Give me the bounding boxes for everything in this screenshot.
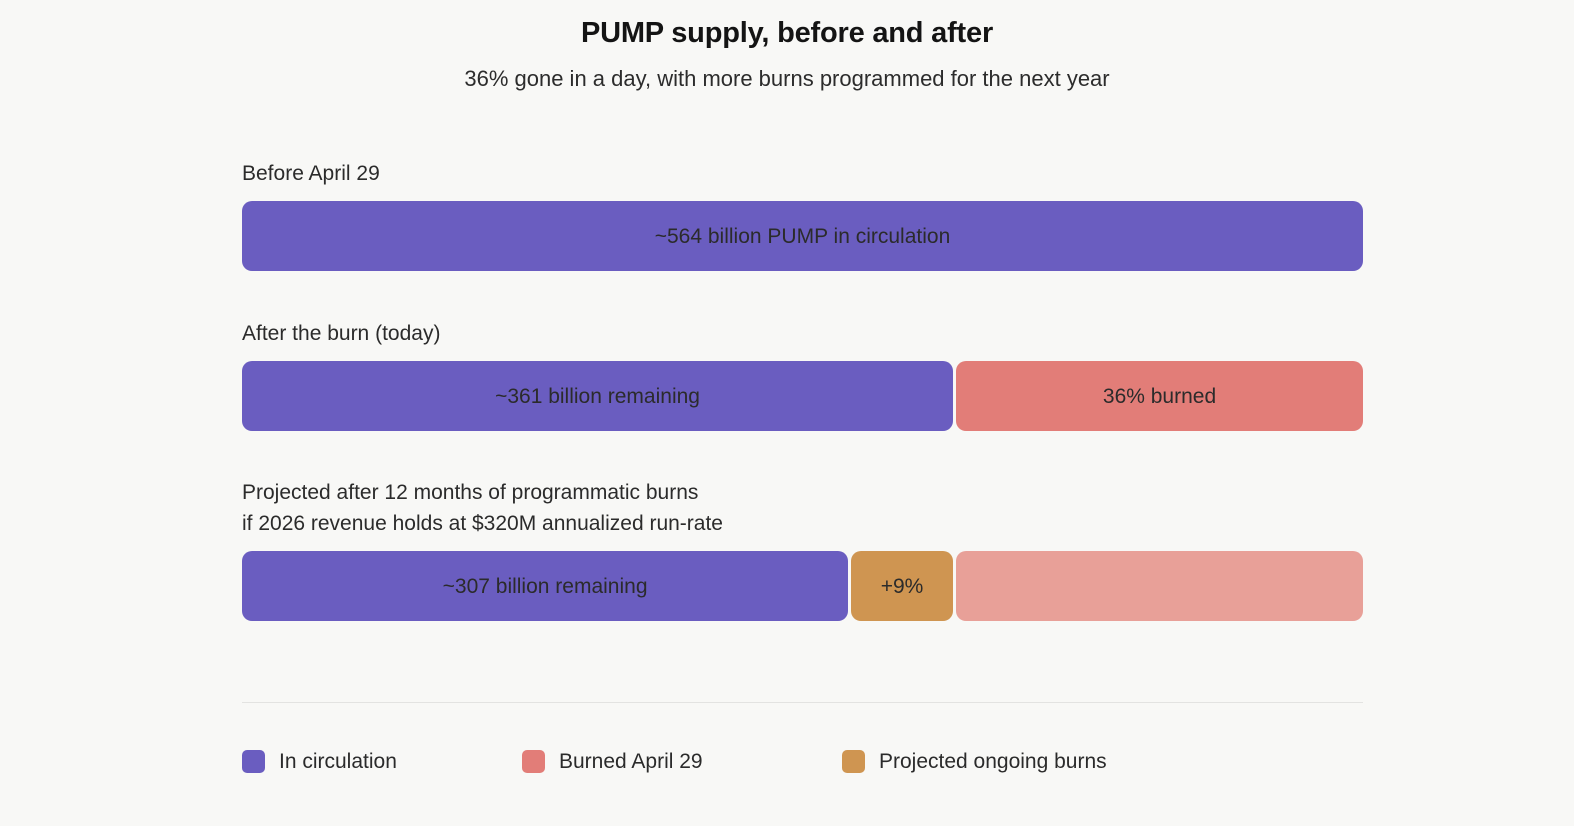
bar-group-label: Before April 29 [242, 158, 1363, 189]
chart-title: PUMP supply, before and after [0, 16, 1574, 51]
bar-track: ~361 billion remaining 36% burned [242, 361, 1363, 431]
chart-legend: In circulation Burned April 29 Projected… [242, 750, 1107, 773]
bar-segment-burned[interactable]: 36% burned [956, 361, 1363, 431]
bar-segment-in-circulation[interactable]: ~564 billion PUMP in circulation [242, 201, 1363, 271]
bar-segment-label: ~361 billion remaining [495, 386, 700, 407]
bar-group-label: Projected after 12 months of programmati… [242, 477, 1363, 539]
bar-segment-label: ~564 billion PUMP in circulation [655, 226, 951, 247]
bar-track: ~307 billion remaining +9% [242, 551, 1363, 621]
legend-divider [242, 702, 1363, 703]
bar-group-before: Before April 29 ~564 billion PUMP in cir… [242, 158, 1363, 271]
legend-swatch-icon [242, 750, 265, 773]
chart-subtitle: 36% gone in a day, with more burns progr… [0, 65, 1574, 94]
bar-segment-in-circulation[interactable]: ~361 billion remaining [242, 361, 953, 431]
bar-segment-burned-faded[interactable] [956, 551, 1363, 621]
bar-segment-label: +9% [881, 576, 924, 597]
bar-group-after-burn: After the burn (today) ~361 billion rema… [242, 318, 1363, 431]
bar-group-label: After the burn (today) [242, 318, 1363, 349]
chart-canvas: PUMP supply, before and after 36% gone i… [0, 0, 1574, 826]
legend-item-label: In circulation [279, 751, 397, 772]
bar-segment-label: 36% burned [1103, 386, 1216, 407]
legend-item-projected[interactable]: Projected ongoing burns [842, 750, 1107, 773]
bar-segment-label: ~307 billion remaining [443, 576, 648, 597]
chart-header: PUMP supply, before and after 36% gone i… [0, 16, 1574, 93]
legend-swatch-icon [522, 750, 545, 773]
bar-group-projected: Projected after 12 months of programmati… [242, 477, 1363, 621]
legend-swatch-icon [842, 750, 865, 773]
legend-item-in-circulation[interactable]: In circulation [242, 750, 522, 773]
bar-segment-projected-burns[interactable]: +9% [851, 551, 953, 621]
legend-item-burned[interactable]: Burned April 29 [522, 750, 842, 773]
legend-item-label: Projected ongoing burns [879, 751, 1107, 772]
bar-track: ~564 billion PUMP in circulation [242, 201, 1363, 271]
legend-item-label: Burned April 29 [559, 751, 703, 772]
bar-segment-in-circulation[interactable]: ~307 billion remaining [242, 551, 848, 621]
